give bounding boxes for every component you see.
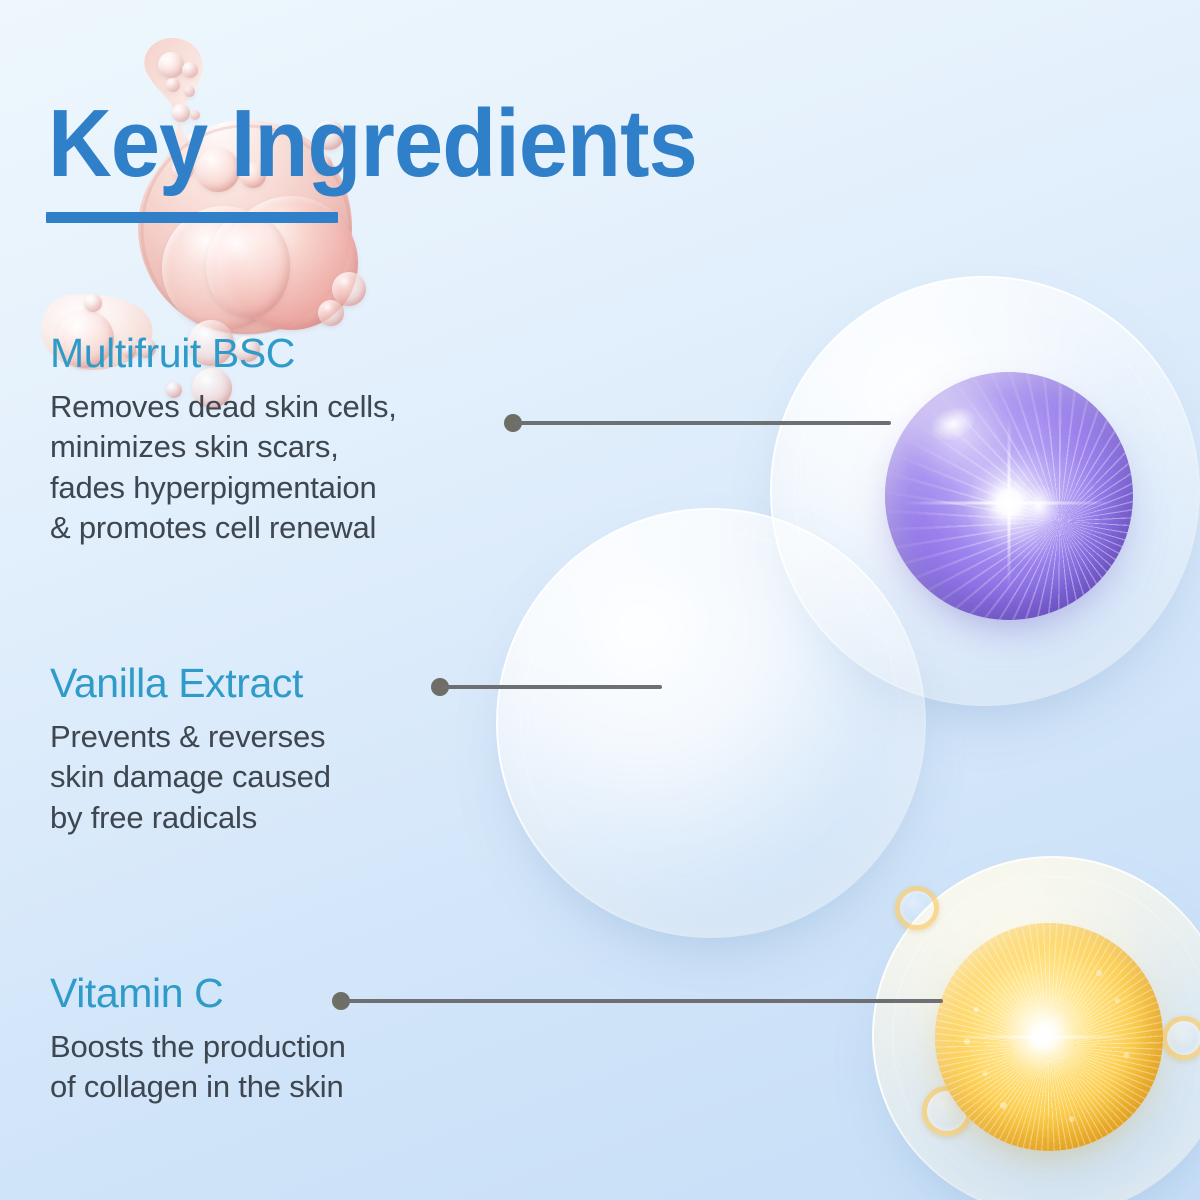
- ingredient-name-vitamin-c: Vitamin C: [50, 972, 346, 1015]
- connector-line-vitaminc: [341, 999, 943, 1003]
- pink-sphere-neck-a: [158, 52, 184, 78]
- vanilla-outer-bubble-shell: [496, 508, 926, 938]
- ingredient-block-vanilla-extract: Vanilla Extract Prevents & reverses skin…: [50, 662, 331, 838]
- golden-ring-bubble-top-left: [895, 886, 939, 930]
- ingredient-description-vitamin-c: Boosts the production of collagen in the…: [50, 1027, 346, 1108]
- key-ingredients-infographic: Key Ingredients Multifruit BSC Removes d…: [0, 0, 1200, 1200]
- ingredient-description-vanilla-extract: Prevents & reverses skin damage caused b…: [50, 717, 331, 838]
- ingredient-name-multifruit-bsc: Multifruit BSC: [50, 332, 397, 375]
- page-title-block: Key Ingredients: [48, 96, 753, 192]
- connector-line-multifruit: [513, 421, 891, 425]
- pink-sphere-neck-b: [182, 62, 198, 78]
- purple-sphere-light-rays: [885, 372, 1133, 620]
- ingredient-description-multifruit-bsc: Removes dead skin cells, minimizes skin …: [50, 387, 397, 548]
- pink-sphere-right-d: [318, 300, 344, 326]
- citrus-sphere-speckles: [935, 923, 1163, 1151]
- pink-sphere-mid-overlap: [206, 214, 290, 318]
- ingredient-block-multifruit-bsc: Multifruit BSC Removes dead skin cells, …: [50, 332, 397, 548]
- multifruit-purple-sphere-icon: [885, 372, 1133, 620]
- ingredient-name-vanilla-extract: Vanilla Extract: [50, 662, 331, 705]
- connector-line-vanilla: [440, 685, 662, 689]
- ingredient-block-vitamin-c: Vitamin C Boosts the production of colla…: [50, 972, 346, 1108]
- pink-sphere-teardrop-small: [84, 294, 102, 312]
- page-title: Key Ingredients: [48, 96, 697, 192]
- vitaminc-citrus-sphere-icon: [935, 923, 1163, 1151]
- title-underline: [46, 212, 338, 223]
- golden-ring-bubble-right: [1162, 1016, 1200, 1060]
